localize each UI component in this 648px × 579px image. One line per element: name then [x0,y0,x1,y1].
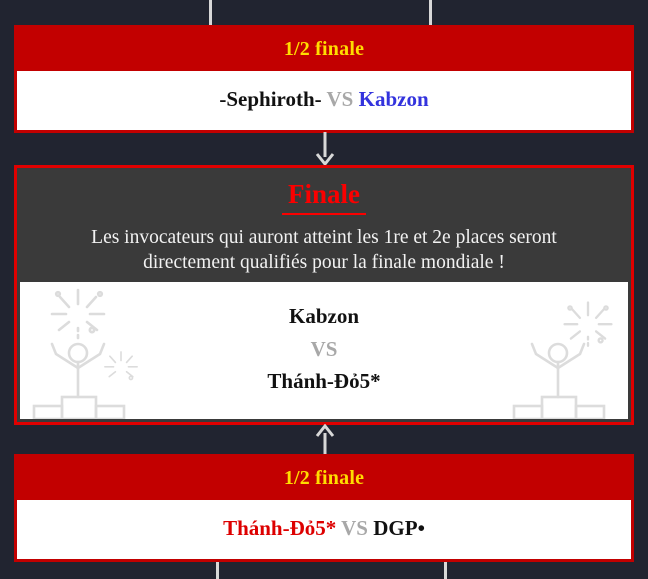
semifinal-top-vs-label: VS [327,87,354,111]
finale-description-line-2: directement qualifiés pour la finale mon… [39,250,609,276]
connector-line-bottom-left [216,562,219,579]
match-card-semifinal-top[interactable]: 1/2 finale -Sephiroth- VS Kabzon [14,25,634,133]
finale-title: Finale [17,168,631,210]
semifinal-bottom-vs-label: VS [341,516,368,540]
arrow-up-icon [310,424,340,458]
finale-player-one: Kabzon [20,300,628,333]
match-card-finale[interactable]: Finale Les invocateurs qui auront attein… [14,165,634,425]
finale-player-two: Thánh-Đỏ5* [20,365,628,398]
connector-line-top-left [209,0,212,27]
connector-line-top-right [429,0,432,27]
semifinal-bottom-player-two: DGP• [373,516,425,540]
tournament-bracket: 1/2 finale -Sephiroth- VS Kabzon Finale … [0,0,648,579]
semifinal-top-matchup: -Sephiroth- VS Kabzon [17,71,631,130]
match-card-semifinal-bottom[interactable]: 1/2 finale Thánh-Đỏ5* VS DGP• [14,454,634,562]
finale-matchup: Kabzon VS Thánh-Đỏ5* [20,282,628,398]
finale-matchup-box: Kabzon VS Thánh-Đỏ5* [20,282,628,419]
semifinal-top-player-two: Kabzon [359,87,429,111]
semifinal-bottom-header: 1/2 finale [17,457,631,500]
semifinal-top-player-one: -Sephiroth- [219,87,321,111]
semifinal-top-header: 1/2 finale [17,28,631,71]
semifinal-bottom-matchup: Thánh-Đỏ5* VS DGP• [17,500,631,559]
finale-description-line-1: Les invocateurs qui auront atteint les 1… [39,225,609,251]
finale-description: Les invocateurs qui auront atteint les 1… [17,215,631,276]
semifinal-bottom-player-one: Thánh-Đỏ5* [223,516,336,540]
finale-vs-label: VS [20,333,628,366]
connector-line-bottom-right [444,562,447,579]
arrow-down-icon [310,132,340,166]
